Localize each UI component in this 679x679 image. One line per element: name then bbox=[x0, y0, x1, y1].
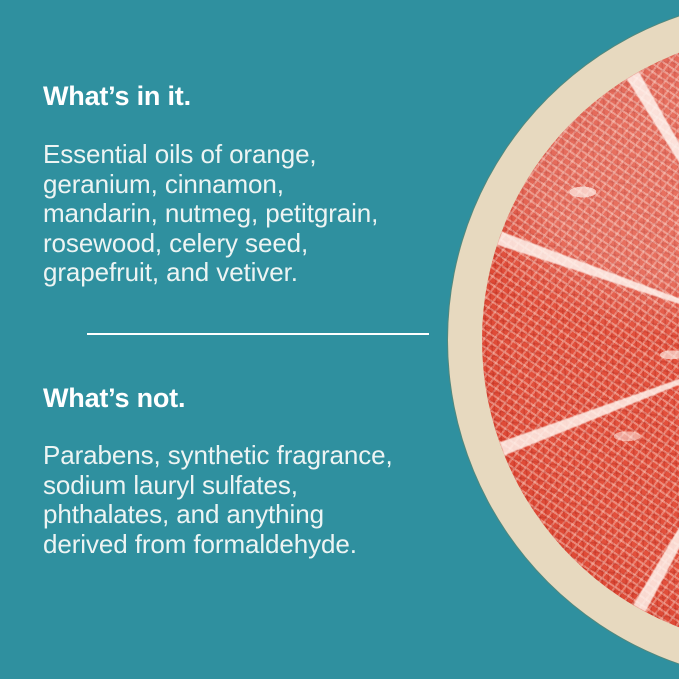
section-divider bbox=[87, 333, 429, 335]
whats-not-heading: What’s not. bbox=[43, 383, 185, 413]
text-column: What’s in it. Essential oils of orange, … bbox=[43, 0, 513, 679]
product-ingredients-panel: What’s in it. Essential oils of orange, … bbox=[0, 0, 679, 679]
whats-in-it-heading: What’s in it. bbox=[43, 81, 191, 111]
whats-not-body: Parabens, synthetic fragrance, sodium la… bbox=[43, 441, 393, 559]
whats-in-it-body: Essential oils of orange, geranium, cinn… bbox=[43, 140, 378, 288]
